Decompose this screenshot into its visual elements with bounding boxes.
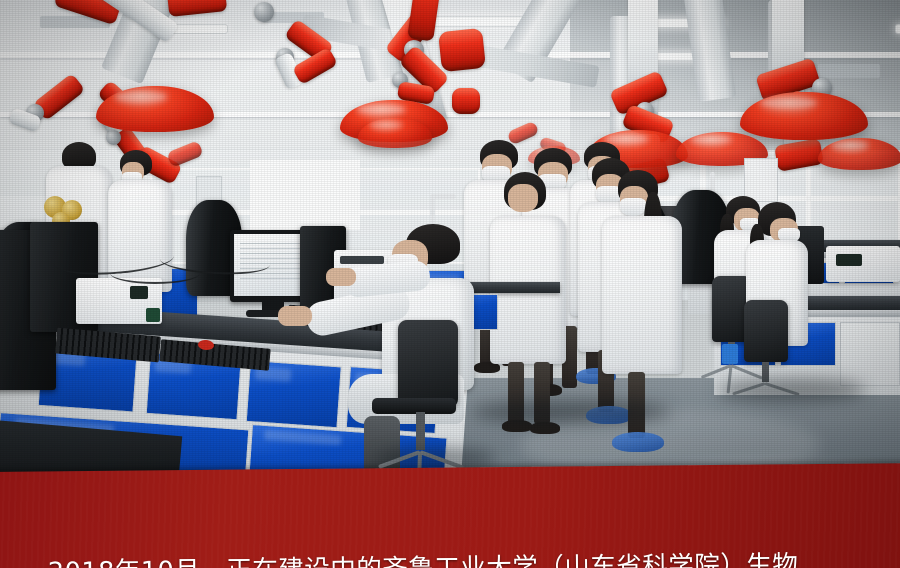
hand: [326, 268, 356, 286]
office-chair-back: [744, 300, 788, 362]
instrument-display: [130, 286, 148, 299]
instrument-display: [340, 256, 384, 264]
wall-fixture: [744, 158, 778, 202]
chair-shadow: [716, 378, 866, 402]
hand: [278, 306, 312, 326]
bench-cabinet: [840, 322, 900, 386]
white-panel: [250, 160, 360, 230]
arm-ball-joint: [254, 2, 274, 22]
instrument-display: [836, 254, 862, 266]
caption-text-block: 2018年10月，正在建设中的齐鲁工业大学（山东省科学院）生物 基材料与绿色造纸…: [11, 472, 898, 568]
caption-line-1: 2018年10月，正在建设中的齐鲁工业大学（山东省科学院）生物: [12, 546, 896, 568]
face: [508, 184, 538, 212]
office-chair-post: [416, 412, 425, 450]
extraction-arm-segment: [438, 28, 486, 72]
caption-banner: 2018年10月，正在建设中的齐鲁工业大学（山东省科学院）生物 基材料与绿色造纸…: [0, 463, 900, 568]
ceiling-light: [420, 16, 532, 27]
photo-with-caption: 2018年10月，正在建设中的齐鲁工业大学（山东省科学院）生物 基材料与绿色造纸…: [0, 0, 900, 568]
extraction-arm-segment: [452, 88, 480, 114]
shoe-cover: [612, 432, 664, 452]
lab-faucet: [430, 194, 456, 199]
ceiling-vent: [818, 64, 880, 78]
office-chair-back: [398, 320, 458, 408]
instrument-indicator: [146, 308, 160, 322]
fume-hood-dome: [818, 138, 900, 170]
lab-coat: [602, 216, 682, 374]
group-shadow: [470, 400, 670, 424]
blue-bin: [722, 344, 738, 364]
ceiling-light: [895, 24, 900, 34]
face-mask: [620, 198, 646, 216]
office-chair-seat: [372, 398, 456, 414]
bench-cabinet: [246, 360, 342, 428]
arm-ball-joint: [106, 130, 121, 145]
